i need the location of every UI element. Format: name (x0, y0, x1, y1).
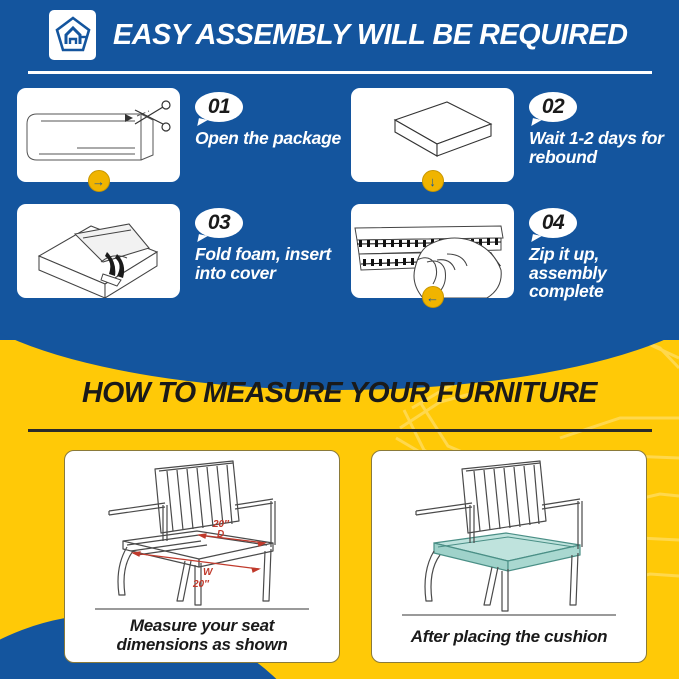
step-04-number: 04 (529, 208, 577, 238)
step-01-number: 01 (195, 92, 243, 122)
measure-section-divider (28, 429, 652, 432)
step-01-number-badge: 01 (195, 92, 243, 122)
measure-card-caption-line1: After placing the cushion (411, 628, 608, 647)
assembly-steps: → 01 Open the package (0, 88, 679, 320)
step-02-arrow-down-icon: ↓ (422, 170, 444, 192)
step-04-number-badge: 04 (529, 208, 577, 238)
step-04-label: Zip it up, assembly complete (529, 245, 679, 301)
measure-cards: 20″ D W 20″ Measure your seat dimensions… (0, 450, 679, 663)
package-scissors-illustration (17, 88, 180, 182)
steps-row-1: → 01 Open the package (0, 88, 679, 204)
step-01-arrow-right-icon: → (88, 170, 110, 192)
step-01-thumbnail: → (17, 88, 180, 182)
step-02-label: Wait 1-2 days for rebound (529, 129, 679, 166)
step-01-label: Open the package (195, 129, 341, 148)
fold-foam-into-cover-illustration (17, 204, 180, 298)
step-02-text: 02 Wait 1-2 days for rebound (529, 88, 679, 166)
step-03-text: 03 Fold foam, insert into cover (195, 204, 345, 282)
step-03-number: 03 (195, 208, 243, 238)
chair-with-dimensions-illustration: 20″ D W 20″ (87, 455, 317, 607)
measure-card-caption-line2: dimensions as shown (117, 636, 288, 655)
step-03-thumbnail (17, 204, 180, 298)
measure-card-divider (402, 614, 616, 616)
width-value-label: 20″ (192, 579, 210, 590)
page-title: EASY ASSEMBLY WILL BE REQUIRED (113, 19, 628, 52)
step-04-arrow-left-icon: ← (422, 286, 444, 308)
measure-card-caption: After placing the cushion (411, 628, 608, 647)
steps-row-2: 03 Fold foam, insert into cover (0, 204, 679, 320)
measure-card-divider (95, 608, 309, 610)
measure-section-title: HOW TO MEASURE YOUR FURNITURE (0, 377, 679, 410)
step-04-thumbnail: ← (351, 204, 514, 298)
step-03-label: Fold foam, insert into cover (195, 245, 345, 282)
measure-card-caption: Measure your seat dimensions as shown (117, 617, 288, 654)
chair-with-cushion-illustration (394, 455, 624, 613)
measure-card-dimensions: 20″ D W 20″ Measure your seat dimensions… (64, 450, 340, 663)
step-03-number-badge: 03 (195, 208, 243, 238)
step-02-thumbnail: ↓ (351, 88, 514, 182)
measure-card-cushion: After placing the cushion (371, 450, 647, 663)
measure-card-caption-line1: Measure your seat (117, 617, 288, 636)
step-04: ← 04 Zip it up, assembly complete (345, 204, 679, 320)
foam-slab-illustration (351, 88, 514, 182)
header-divider (28, 71, 652, 74)
depth-letter-label: D (217, 529, 224, 540)
width-letter-label: W (203, 567, 214, 578)
step-02: ↓ 02 Wait 1-2 days for rebound (345, 88, 679, 204)
step-01-text: 01 Open the package (195, 88, 341, 148)
step-01: → 01 Open the package (0, 88, 345, 204)
infographic-canvas: EASY ASSEMBLY WILL BE REQUIRED (0, 0, 679, 679)
step-03: 03 Fold foam, insert into cover (0, 204, 345, 320)
hand-zipping-cushion-illustration (351, 204, 514, 298)
house-pentagon-logo-icon (49, 10, 96, 60)
step-02-number-badge: 02 (529, 92, 577, 122)
step-04-text: 04 Zip it up, assembly complete (529, 204, 679, 301)
header: EASY ASSEMBLY WILL BE REQUIRED (0, 6, 679, 64)
step-02-number: 02 (529, 92, 577, 122)
